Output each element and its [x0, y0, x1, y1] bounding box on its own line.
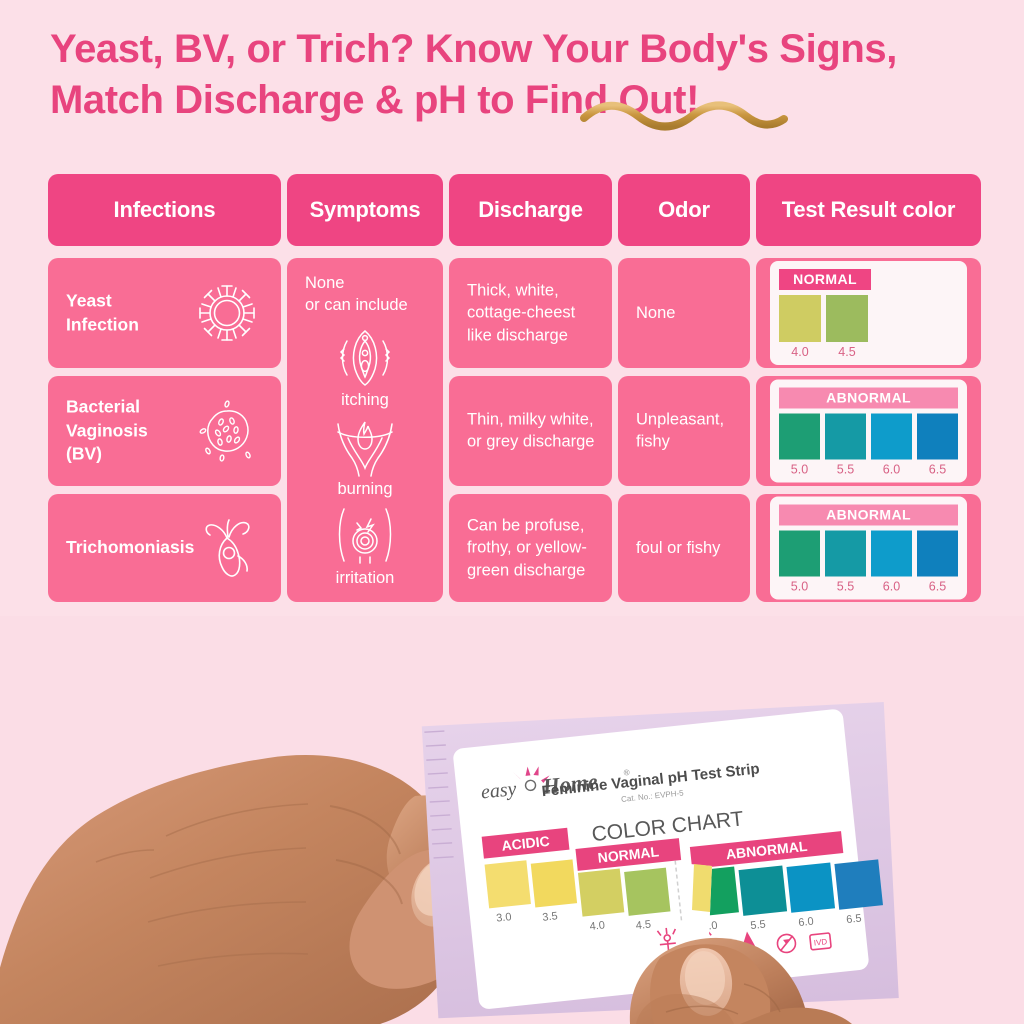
symptoms-intro: None or can include [287, 272, 408, 317]
ph-swatch-label-5-0: 5.0 [791, 463, 808, 477]
symptom-itching-label: itching [341, 391, 389, 410]
cell-odor-yeast: None [618, 258, 750, 368]
symptom-irritation: irritation [330, 505, 400, 588]
column-symptoms: Symptoms None or can include [287, 174, 443, 602]
ph-swatch-item: 5.5 [825, 531, 866, 594]
odor-yeast-text: None [636, 302, 740, 324]
ph-swatch-label-6-5: 6.5 [929, 463, 946, 477]
ph-swatch-item: 6.5 [917, 414, 958, 477]
ph-swatch-5-0 [779, 414, 820, 460]
cell-symptoms: None or can include [287, 258, 443, 602]
header-odor: Odor [618, 174, 750, 246]
symptoms-intro-line1: None [305, 272, 408, 294]
page-headline: Yeast, BV, or Trich? Know Your Body's Si… [50, 24, 990, 126]
burning-flame-icon [328, 416, 402, 478]
header-infections: Infections [48, 174, 281, 246]
cell-test-result-bv: ABNORMAL 5.0 5.5 6.0 [756, 376, 981, 486]
column-odor: Odor None Unpleasant, fishy foul or fish… [618, 174, 750, 602]
ph-swatch-item: 6.0 [871, 414, 912, 477]
header-discharge: Discharge [449, 174, 612, 246]
ph-swatch-row-abnormal-bv: 5.0 5.5 6.0 6.5 [779, 414, 958, 477]
product-photo: easy Home ® Feminine Vaginal pH Test Str… [0, 616, 1024, 1024]
symptom-itching: itching [331, 323, 399, 410]
header-test-result-color: Test Result color [756, 174, 981, 246]
bacteria-cluster-icon [191, 395, 263, 467]
trichomonad-icon [191, 512, 263, 584]
cell-odor-trich: foul or fishy [618, 494, 750, 602]
ph-swatch-item: 4.0 [779, 295, 821, 359]
cell-discharge-trich: Can be profuse, frothy, or yellow-green … [449, 494, 612, 602]
ph-swatch-label-6-5: 6.5 [929, 580, 946, 594]
ph-swatch-6-0 [871, 531, 912, 577]
ph-swatch-item: 5.0 [779, 531, 820, 594]
column-discharge: Discharge Thick, white, cottage-cheest l… [449, 174, 612, 602]
ph-swatch-item: 5.0 [779, 414, 820, 477]
header-infections-label: Infections [114, 197, 216, 223]
ph-swatch-6-5 [917, 531, 958, 577]
column-infections: Infections Yeast Infection [48, 174, 281, 602]
ph-swatch-6-5 [917, 414, 958, 460]
brand-easy: easy [480, 778, 518, 804]
symptoms-intro-line2: or can include [305, 294, 408, 316]
ph-badge-abnormal-trich: ABNORMAL [779, 505, 958, 526]
odor-bv-text: Unpleasant, fishy [636, 409, 740, 454]
ph-swatch-item: 6.5 [917, 531, 958, 594]
svg-text:3.0: 3.0 [496, 911, 512, 925]
header-discharge-label: Discharge [478, 197, 583, 223]
cell-discharge-bv: Thin, milky white, or grey discharge [449, 376, 612, 486]
ph-strip-card-normal: NORMAL 4.0 4.5 [770, 261, 967, 365]
ph-swatch-label-4-5: 4.5 [838, 345, 855, 359]
irritation-icon [330, 505, 400, 567]
ph-indicator-pad [692, 864, 712, 912]
cell-discharge-yeast: Thick, white, cottage-cheest like discha… [449, 258, 612, 368]
symptom-irritation-label: irritation [336, 569, 395, 588]
ph-swatch-item: 5.5 [825, 414, 866, 477]
discharge-yeast-text: Thick, white, cottage-cheest like discha… [467, 280, 602, 347]
headline-line-1: Yeast, BV, or Trich? Know Your Body's Si… [50, 24, 990, 75]
ph-swatch-label-5-5: 5.5 [837, 580, 854, 594]
discharge-bv-text: Thin, milky white, or grey discharge [467, 409, 602, 454]
vulva-itching-icon [331, 323, 399, 389]
svg-text:5.5: 5.5 [750, 919, 766, 933]
ph-swatch-5-5 [825, 414, 866, 460]
ph-swatch-label-4-0: 4.0 [791, 345, 808, 359]
ph-swatch-5-0 [779, 531, 820, 577]
odor-trich-text: foul or fishy [636, 537, 740, 559]
cell-infection-trich: Trichomoniasis [48, 494, 281, 602]
ph-swatch-label-5-0: 5.0 [791, 580, 808, 594]
ph-swatch-label-6-0: 6.0 [883, 580, 900, 594]
svg-text:IVD: IVD [813, 937, 827, 947]
header-odor-label: Odor [658, 197, 710, 223]
ph-swatch-row-abnormal-trich: 5.0 5.5 6.0 6.5 [779, 531, 958, 594]
ph-strip-card-abnormal-trich: ABNORMAL 5.0 5.5 6.0 [770, 497, 967, 600]
ph-swatch-item: 4.5 [826, 295, 868, 359]
ph-strip-card-abnormal-bv: ABNORMAL 5.0 5.5 6.0 [770, 380, 967, 483]
svg-text:4.5: 4.5 [635, 919, 651, 933]
ph-swatch-item: 6.0 [871, 531, 912, 594]
header-test-result-color-label: Test Result color [782, 197, 955, 223]
symptom-burning-label: burning [337, 480, 392, 499]
ph-swatch-label-6-0: 6.0 [883, 463, 900, 477]
ph-swatch-4-5 [826, 295, 868, 342]
svg-text:6.5: 6.5 [846, 913, 862, 927]
ph-swatch-label-5-5: 5.5 [837, 463, 854, 477]
header-symptoms-label: Symptoms [310, 197, 421, 223]
ph-badge-abnormal-bv: ABNORMAL [779, 388, 958, 409]
svg-text:3.5: 3.5 [542, 910, 558, 924]
svg-text:4.0: 4.0 [589, 919, 605, 933]
header-symptoms: Symptoms [287, 174, 443, 246]
comparison-table: Infections Yeast Infection [48, 174, 981, 602]
cell-infection-bv: Bacterial Vaginosis (BV) [48, 376, 281, 486]
headline-line-2: Match Discharge & pH to Find Out! [50, 75, 990, 126]
discharge-trich-text: Can be profuse, frothy, or yellow-green … [467, 515, 602, 582]
column-test-result-color: Test Result color NORMAL 4.0 4.5 [756, 174, 981, 602]
product-photo-illustration: easy Home ® Feminine Vaginal pH Test Str… [0, 616, 1024, 1024]
virus-icon [191, 277, 263, 349]
symptom-burning: burning [328, 416, 402, 499]
cell-infection-yeast: Yeast Infection [48, 258, 281, 368]
svg-text:6.0: 6.0 [798, 916, 814, 930]
cell-test-result-yeast: NORMAL 4.0 4.5 [756, 258, 981, 368]
ph-swatch-4-0 [779, 295, 821, 342]
ph-swatch-row-normal: 4.0 4.5 [779, 295, 958, 359]
ph-swatch-5-5 [825, 531, 866, 577]
ph-badge-normal: NORMAL [779, 269, 871, 290]
ph-swatch-6-0 [871, 414, 912, 460]
cell-odor-bv: Unpleasant, fishy [618, 376, 750, 486]
cell-test-result-trich: ABNORMAL 5.0 5.5 6.0 [756, 494, 981, 602]
